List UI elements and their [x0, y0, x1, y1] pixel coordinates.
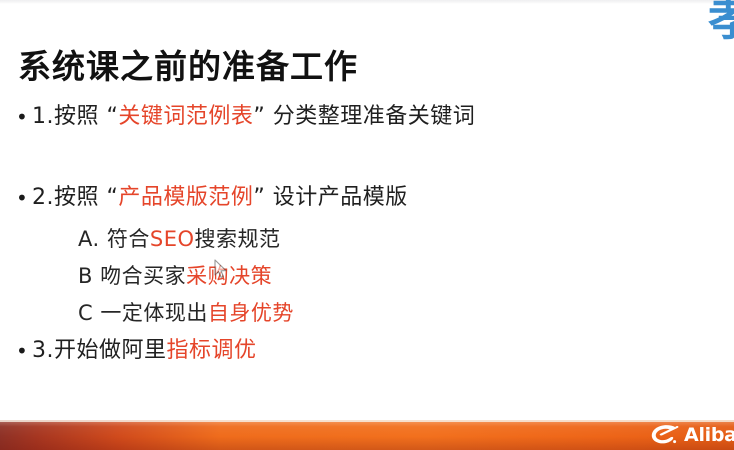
list-item-1-seg-1-highlight: 关键词范例表 [118, 104, 253, 129]
list-item-1-seg-0: 1.按照 “ [32, 104, 118, 129]
alibaba-wordmark: Alibab [684, 423, 734, 447]
list-item-3-text: 3.开始做阿里指标调优 [32, 334, 257, 368]
corner-blue-glyph: 孝 [708, 0, 734, 42]
sub-list-item-c-text: C 一定体现出自身优势 [78, 301, 294, 325]
list-item-2-seg-2: ” 设计产品模版 [253, 185, 407, 210]
sub-c-seg-0: C 一定体现出 [78, 301, 208, 325]
sub-list-item-a-text: A. 符合SEO搜索规范 [78, 227, 281, 251]
alibaba-e-swoosh-icon [649, 423, 683, 447]
sub-b-seg-0: B 吻合买家 [78, 264, 186, 288]
spacer-2 [0, 215, 734, 223]
list-item-1: • 1.按照 “关键词范例表” 分类整理准备关键词 [0, 100, 734, 134]
sub-list-item-b: B 吻合买家采购决策 [0, 260, 734, 293]
list-item-3-seg-0: 3.开始做阿里 [32, 338, 167, 363]
top-edge-strip [0, 0, 734, 4]
list-item-1-seg-2: ” 分类整理准备关键词 [253, 104, 475, 129]
sub-list-item-c: C 一定体现出自身优势 [0, 297, 734, 330]
sub-a-seg-2: 搜索规范 [195, 227, 281, 251]
sub-a-seg-0: A. 符合 [78, 227, 150, 251]
alibaba-logo: Alibab [649, 422, 734, 448]
sub-c-seg-1-highlight: 自身优势 [208, 301, 294, 325]
footer-bar: Alibab [0, 420, 734, 450]
sub-a-seg-1-highlight: SEO [150, 227, 195, 251]
page-title: 系统课之前的准备工作 [18, 40, 358, 88]
bullet-dot-icon: • [16, 181, 32, 215]
list-item-2-text: 2.按照 “产品模版范例” 设计产品模版 [32, 181, 408, 215]
body-content-list: • 1.按照 “关键词范例表” 分类整理准备关键词 • 2.按照 “产品模版范例… [0, 100, 734, 368]
sub-list-item-b-text: B 吻合买家采购决策 [78, 264, 272, 288]
slide-canvas: 孝 系统课之前的准备工作 • 1.按照 “关键词范例表” 分类整理准备关键词 •… [0, 0, 734, 450]
list-item-2-seg-1-highlight: 产品模版范例 [118, 185, 253, 210]
list-item-3: • 3.开始做阿里指标调优 [0, 334, 734, 368]
list-item-2: • 2.按照 “产品模版范例” 设计产品模版 [0, 181, 734, 215]
list-item-1-text: 1.按照 “关键词范例表” 分类整理准备关键词 [32, 100, 475, 134]
spacer-1 [0, 134, 734, 181]
sub-list-item-a: A. 符合SEO搜索规范 [0, 223, 734, 256]
bullet-dot-icon: • [16, 100, 32, 134]
list-item-3-seg-1-highlight: 指标调优 [167, 338, 257, 363]
sub-b-seg-1-highlight: 采购决策 [186, 264, 272, 288]
bullet-dot-icon: • [16, 334, 32, 368]
list-item-2-seg-0: 2.按照 “ [32, 185, 118, 210]
footer-top-highlight [0, 420, 734, 422]
